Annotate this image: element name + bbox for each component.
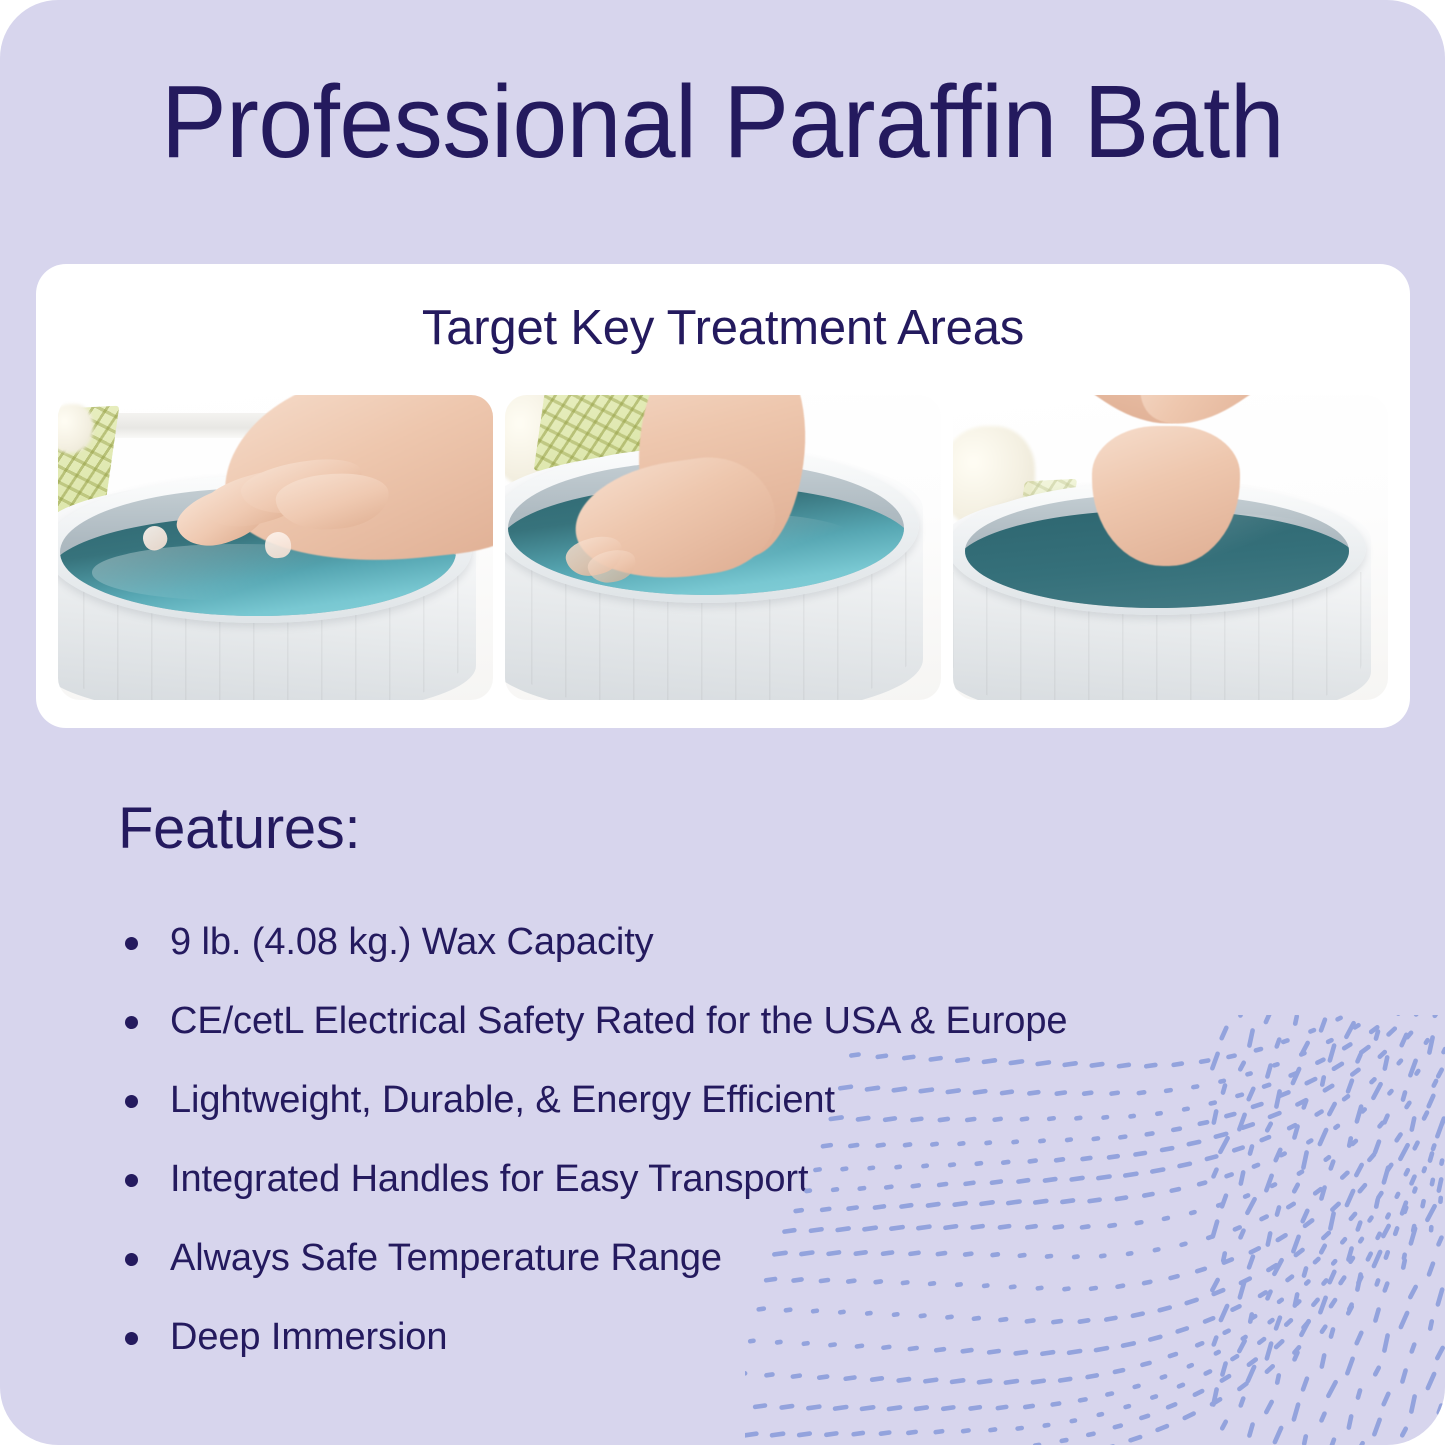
bullet-icon (125, 1253, 138, 1266)
features-heading: Features: (118, 795, 360, 862)
feature-item: 9 lb. (4.08 kg.) Wax Capacity (118, 903, 1268, 982)
feature-text: Deep Immersion (170, 1316, 447, 1359)
bullet-icon (125, 1174, 138, 1187)
feature-item: Integrated Handles for Easy Transport (118, 1140, 1268, 1219)
treatment-photo-hand (58, 395, 493, 700)
bullet-icon (125, 1095, 138, 1108)
feature-text: CE/cetL Electrical Safety Rated for the … (170, 1000, 1067, 1043)
treatment-photo-foot (505, 395, 940, 700)
bullet-icon (125, 1332, 138, 1345)
page-title: Professional Paraffin Bath (33, 66, 1413, 177)
treatment-photo-elbow (953, 395, 1388, 700)
feature-text: 9 lb. (4.08 kg.) Wax Capacity (170, 921, 654, 964)
bullet-icon (125, 1016, 138, 1029)
features-list: 9 lb. (4.08 kg.) Wax Capacity CE/cetL El… (118, 903, 1268, 1377)
bullet-icon (125, 937, 138, 950)
product-infographic: Professional Paraffin Bath Target Key Tr… (0, 0, 1445, 1445)
feature-item: CE/cetL Electrical Safety Rated for the … (118, 982, 1268, 1061)
treatment-areas-card: Target Key Treatment Areas (36, 264, 1410, 728)
feature-item: Lightweight, Durable, & Energy Efficient (118, 1061, 1268, 1140)
feature-item: Deep Immersion (118, 1298, 1268, 1377)
feature-text: Integrated Handles for Easy Transport (170, 1158, 808, 1201)
card-heading: Target Key Treatment Areas (36, 300, 1410, 356)
photo-strip (58, 395, 1388, 700)
feature-text: Lightweight, Durable, & Energy Efficient (170, 1079, 835, 1122)
feature-item: Always Safe Temperature Range (118, 1219, 1268, 1298)
feature-text: Always Safe Temperature Range (170, 1237, 722, 1280)
